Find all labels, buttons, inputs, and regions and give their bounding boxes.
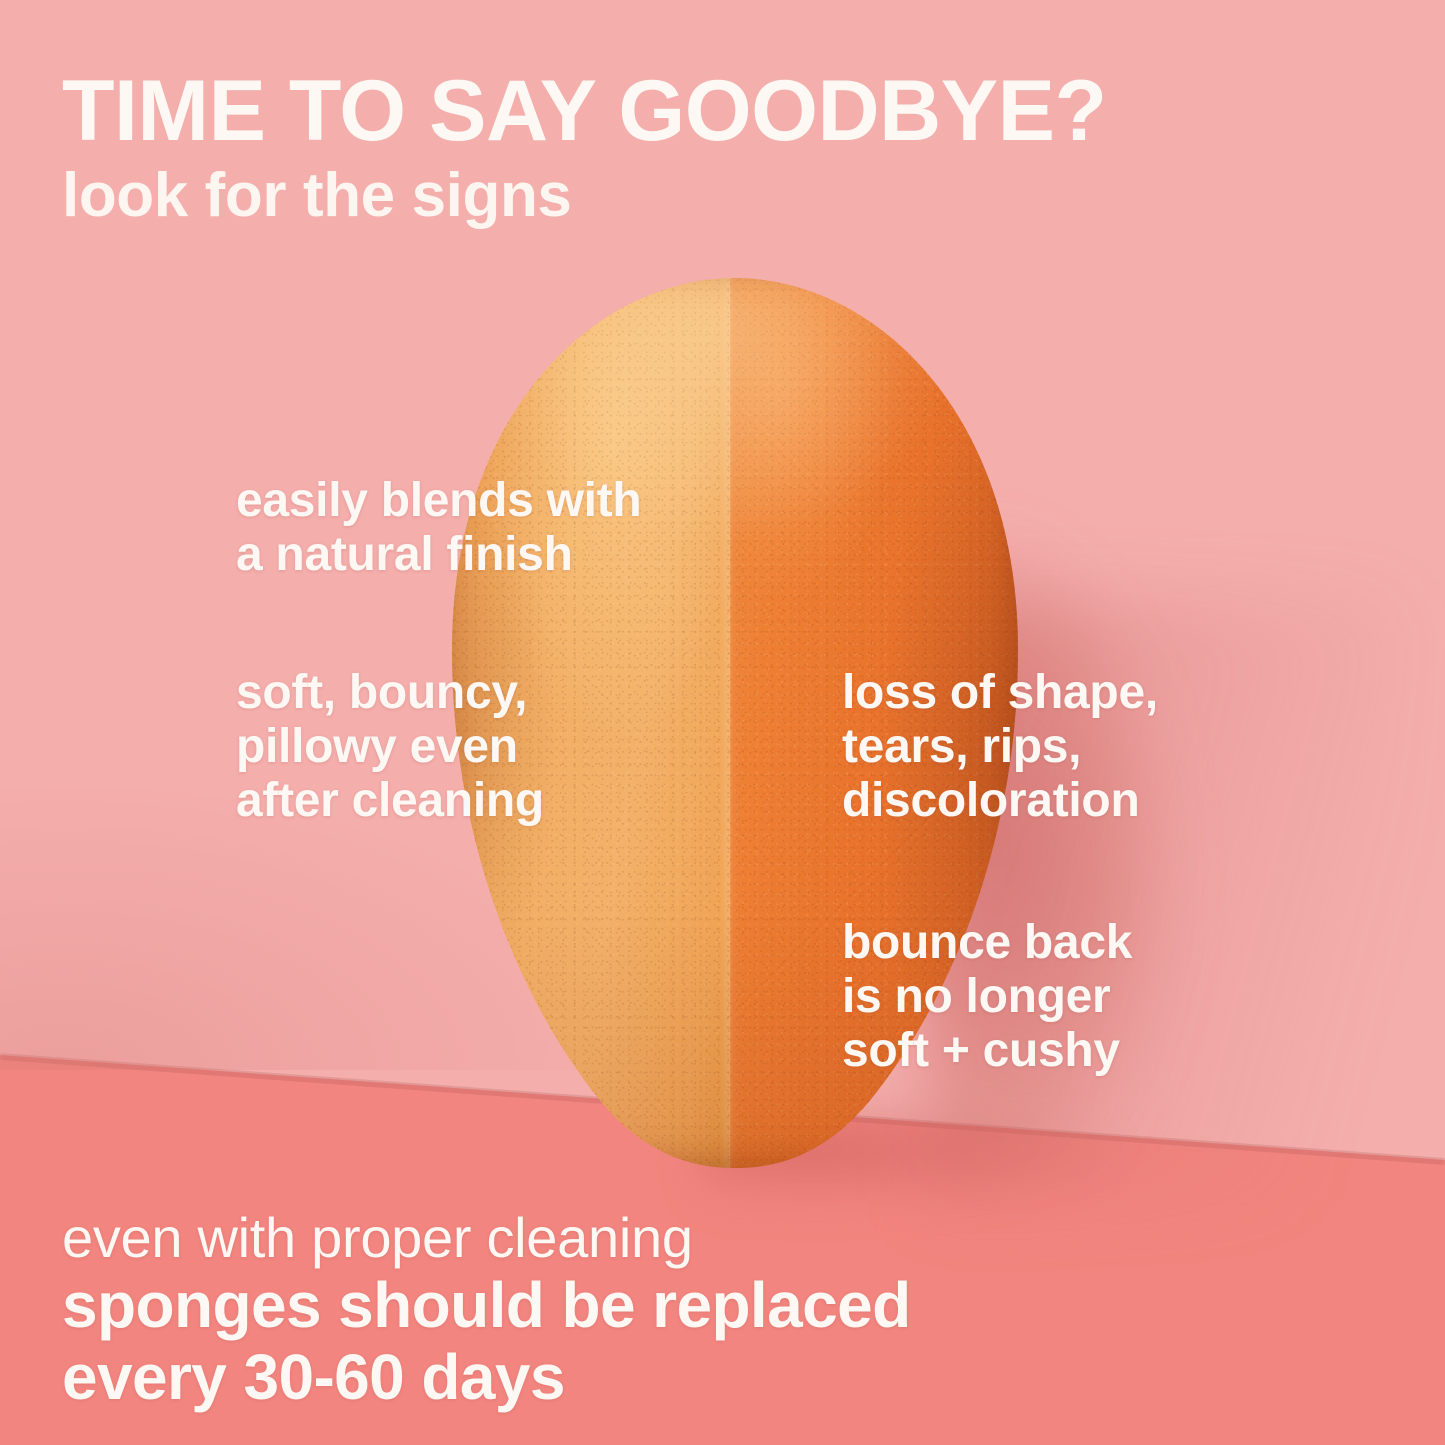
- callout-line: loss of shape,: [842, 666, 1158, 720]
- callout-line: is no longer: [842, 970, 1132, 1024]
- page-title: TIME TO SAY GOODBYE?: [62, 68, 1107, 154]
- footer-line-every-30-60-days: every 30-60 days: [62, 1342, 911, 1414]
- callout-line: easily blends with: [236, 474, 641, 528]
- callout-line: soft, bouncy,: [236, 666, 544, 720]
- callout-easily-blends: easily blends with a natural finish: [236, 474, 641, 582]
- footer-replacement-advice: even with proper cleaning sponges should…: [62, 1206, 911, 1413]
- callout-loss-of-shape: loss of shape, tears, rips, discoloratio…: [842, 666, 1158, 827]
- callout-line: bounce back: [842, 916, 1132, 970]
- sponge-center-seam: [720, 278, 742, 1168]
- callout-line: pillowy even: [236, 720, 544, 774]
- callout-soft-bouncy: soft, bouncy, pillowy even after cleanin…: [236, 666, 544, 827]
- callout-line: discoloration: [842, 774, 1158, 828]
- page-subtitle: look for the signs: [62, 165, 572, 227]
- callout-bounce-back: bounce back is no longer soft + cushy: [842, 916, 1132, 1077]
- callout-line: a natural finish: [236, 528, 641, 582]
- infographic-canvas: TIME TO SAY GOODBYE? look for the signs …: [0, 0, 1445, 1445]
- footer-line-sponges-should-be-replaced: sponges should be replaced: [62, 1270, 911, 1342]
- callout-line: soft + cushy: [842, 1024, 1132, 1078]
- footer-line-even-with-proper-cleaning: even with proper cleaning: [62, 1206, 911, 1270]
- callout-line: after cleaning: [236, 774, 544, 828]
- callout-line: tears, rips,: [842, 720, 1158, 774]
